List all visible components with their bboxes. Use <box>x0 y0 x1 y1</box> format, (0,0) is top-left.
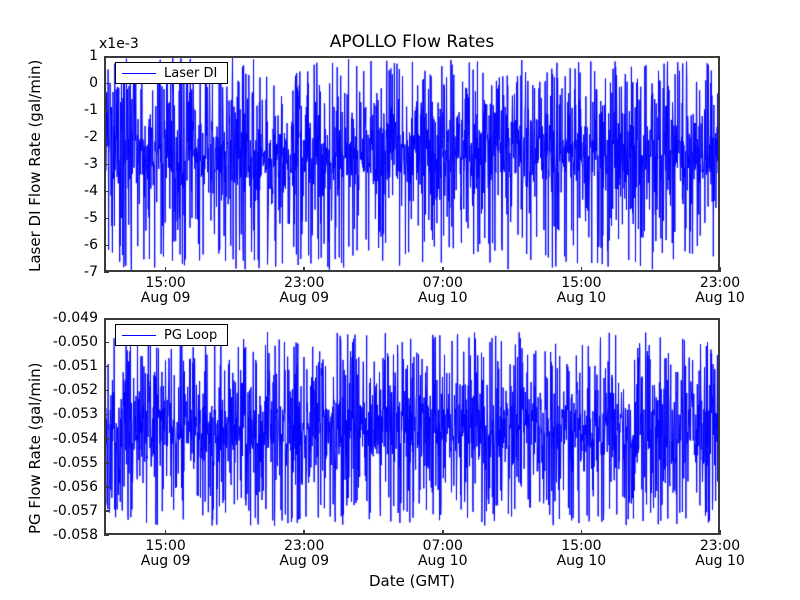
y-tick-mark <box>104 218 109 220</box>
y-tick-label: -0.050 <box>26 334 98 350</box>
y-tick-label: -7 <box>26 264 98 280</box>
x-tick-label: 15:00Aug 10 <box>521 539 641 569</box>
y-tick-label: -4 <box>26 183 98 199</box>
x-tick-time: 15:00 <box>521 276 641 291</box>
x-tick-time: 23:00 <box>660 539 780 554</box>
x-tick-time: 15:00 <box>521 539 641 554</box>
x-tick-mark <box>442 267 444 272</box>
legend-pg-loop[interactable]: PG Loop <box>115 324 228 346</box>
plot-area-pg-loop <box>104 318 720 535</box>
x-tick-date: Aug 10 <box>660 554 780 569</box>
y-tick-label: -3 <box>26 156 98 172</box>
y-tick-mark <box>104 164 109 166</box>
x-tick-date: Aug 10 <box>521 291 641 306</box>
x-tick-date: Aug 09 <box>244 291 364 306</box>
x-tick-label: 23:00Aug 09 <box>244 539 364 569</box>
x-tick-label: 15:00Aug 09 <box>106 276 226 306</box>
y-tick-mark <box>104 438 109 440</box>
x-tick-date: Aug 10 <box>660 291 780 306</box>
x-tick-label: 23:00Aug 10 <box>660 276 780 306</box>
x-tick-mark <box>719 530 721 535</box>
y-tick-mark <box>104 414 109 416</box>
x-tick-date: Aug 09 <box>244 554 364 569</box>
y-tick-mark <box>104 342 109 344</box>
y-tick-mark <box>104 318 109 320</box>
x-tick-time: 15:00 <box>106 276 226 291</box>
x-tick-label: 23:00Aug 09 <box>244 276 364 306</box>
x-tick-date: Aug 10 <box>383 554 503 569</box>
y-tick-mark <box>104 191 109 193</box>
x-tick-date: Aug 09 <box>106 554 226 569</box>
legend-label-laser-di: Laser DI <box>164 66 221 81</box>
x-tick-mark <box>165 530 167 535</box>
x-tick-time: 07:00 <box>383 539 503 554</box>
x-tick-date: Aug 10 <box>383 291 503 306</box>
x-tick-mark <box>442 530 444 535</box>
x-tick-time: 23:00 <box>244 539 364 554</box>
x-tick-mark <box>581 267 583 272</box>
y-tick-mark <box>104 462 109 464</box>
y-tick-label: -0.056 <box>26 479 98 495</box>
y-tick-mark <box>104 510 109 512</box>
x-tick-time: 07:00 <box>383 276 503 291</box>
legend-label-pg-loop: PG Loop <box>164 328 221 343</box>
y-tick-label: -1 <box>26 102 98 118</box>
x-tick-mark <box>165 267 167 272</box>
y-tick-mark <box>104 486 109 488</box>
legend-line-swatch-pg-loop <box>122 335 156 336</box>
y-tick-mark <box>104 535 109 537</box>
y-tick-label: -6 <box>26 237 98 253</box>
legend-line-swatch-laser-di <box>122 73 156 74</box>
x-tick-time: 23:00 <box>244 276 364 291</box>
y-tick-mark <box>104 56 109 58</box>
x-tick-label: 07:00Aug 10 <box>383 539 503 569</box>
plot-area-laser-di <box>104 56 720 272</box>
x-tick-label: 15:00Aug 10 <box>521 276 641 306</box>
x-tick-mark <box>581 530 583 535</box>
x-tick-label: 07:00Aug 10 <box>383 276 503 306</box>
figure-canvas: APOLLO Flow Rates x1e-3 Laser DI Flow Ra… <box>0 0 800 600</box>
y-tick-mark <box>104 390 109 392</box>
x-tick-label: 15:00Aug 09 <box>106 539 226 569</box>
y-tick-label: 1 <box>26 48 98 64</box>
x-tick-mark <box>303 530 305 535</box>
x-tick-date: Aug 09 <box>106 291 226 306</box>
y-tick-mark <box>104 272 109 274</box>
legend-laser-di[interactable]: Laser DI <box>115 62 228 84</box>
y-tick-label: -0.055 <box>26 455 98 471</box>
y-tick-label: -0.051 <box>26 358 98 374</box>
x-tick-date: Aug 10 <box>521 554 641 569</box>
y-tick-mark <box>104 110 109 112</box>
y-tick-label: -0.053 <box>26 406 98 422</box>
laser-di-series-canvas <box>106 58 718 270</box>
x-axis-label: Date (GMT) <box>104 572 720 590</box>
y-tick-label: -5 <box>26 210 98 226</box>
y-tick-label: 0 <box>26 75 98 91</box>
y-tick-label: -0.054 <box>26 431 98 447</box>
x-tick-mark <box>719 267 721 272</box>
y-tick-label: -0.058 <box>26 527 98 543</box>
y-axis-offset-text-top: x1e-3 <box>99 36 139 52</box>
pg-loop-series-canvas <box>106 320 718 533</box>
chart-title: APOLLO Flow Rates <box>104 32 720 52</box>
y-tick-label: -2 <box>26 129 98 145</box>
y-tick-mark <box>104 137 109 139</box>
y-tick-label: -0.052 <box>26 382 98 398</box>
y-tick-label: -0.049 <box>26 310 98 326</box>
y-tick-mark <box>104 366 109 368</box>
x-tick-time: 23:00 <box>660 276 780 291</box>
y-tick-label: -0.057 <box>26 503 98 519</box>
x-tick-label: 23:00Aug 10 <box>660 539 780 569</box>
y-tick-mark <box>104 83 109 85</box>
x-tick-time: 15:00 <box>106 539 226 554</box>
y-tick-mark <box>104 245 109 247</box>
x-tick-mark <box>303 267 305 272</box>
